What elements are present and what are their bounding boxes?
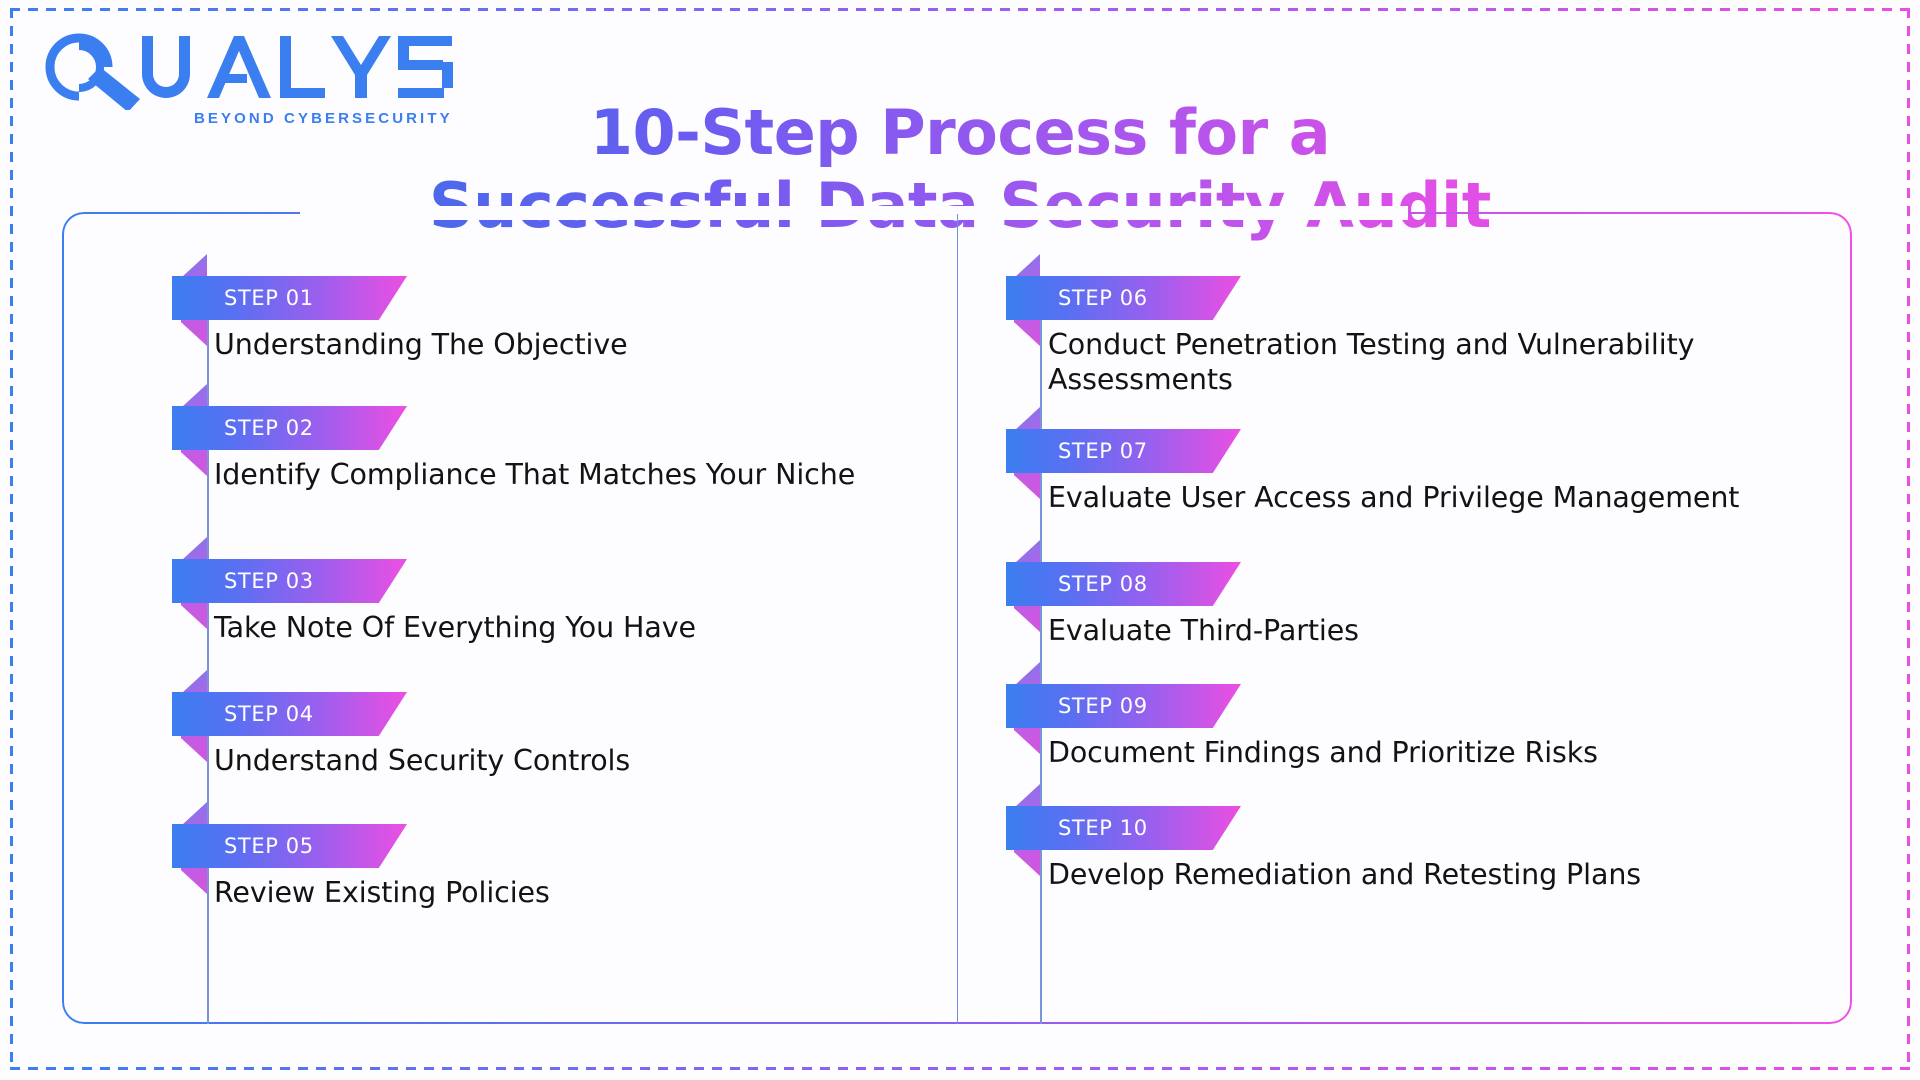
step-banner[interactable]: STEP 05 [172,824,407,868]
step-description: Understand Security Controls [214,744,874,779]
step-banner[interactable]: STEP 07 [1006,429,1241,473]
steps-column-right: STEP 06Conduct Penetration Testing and V… [957,214,1852,1024]
step-item[interactable]: STEP 08Evaluate Third-Parties [958,562,1852,692]
title-line-1: 10-Step Process for a [590,96,1330,169]
steps-container: STEP 01Understanding The ObjectiveSTEP 0… [62,214,1852,1024]
step-description: Review Existing Policies [214,876,874,911]
step-ribbon: STEP 02 [62,406,957,454]
step-item[interactable]: STEP 01Understanding The Objective [62,276,957,406]
step-label: STEP 04 [224,702,314,726]
step-ribbon: STEP 05 [62,824,957,872]
step-ribbon: STEP 07 [958,429,1852,477]
step-description: Document Findings and Prioritize Risks [1048,736,1848,771]
step-label: STEP 07 [1058,439,1148,463]
step-label: STEP 08 [1058,572,1148,596]
step-banner[interactable]: STEP 04 [172,692,407,736]
step-banner[interactable]: STEP 09 [1006,684,1241,728]
step-description: Evaluate User Access and Privilege Manag… [1048,481,1848,516]
step-item[interactable]: STEP 09Document Findings and Prioritize … [958,684,1852,814]
step-label: STEP 10 [1058,816,1148,840]
step-label: STEP 06 [1058,286,1148,310]
step-banner[interactable]: STEP 10 [1006,806,1241,850]
step-label: STEP 01 [224,286,314,310]
step-description: Evaluate Third-Parties [1048,614,1848,649]
step-description: Develop Remediation and Retesting Plans [1048,858,1848,893]
step-ribbon: STEP 03 [62,559,957,607]
step-ribbon: STEP 06 [958,276,1852,324]
step-item[interactable]: STEP 06Conduct Penetration Testing and V… [958,276,1852,406]
step-description: Take Note Of Everything You Have [214,611,874,646]
step-banner[interactable]: STEP 02 [172,406,407,450]
step-item[interactable]: STEP 04Understand Security Controls [62,692,957,822]
step-item[interactable]: STEP 02Identify Compliance That Matches … [62,406,957,536]
step-ribbon: STEP 08 [958,562,1852,610]
step-banner[interactable]: STEP 03 [172,559,407,603]
step-banner[interactable]: STEP 08 [1006,562,1241,606]
step-banner[interactable]: STEP 01 [172,276,407,320]
step-label: STEP 05 [224,834,314,858]
step-label: STEP 09 [1058,694,1148,718]
step-label: STEP 03 [224,569,314,593]
step-label: STEP 02 [224,416,314,440]
step-banner[interactable]: STEP 06 [1006,276,1241,320]
step-item[interactable]: STEP 05Review Existing Policies [62,824,957,954]
step-ribbon: STEP 09 [958,684,1852,732]
step-ribbon: STEP 01 [62,276,957,324]
step-description: Identify Compliance That Matches Your Ni… [214,458,874,493]
step-description: Conduct Penetration Testing and Vulnerab… [1048,328,1848,398]
step-item[interactable]: STEP 07Evaluate User Access and Privileg… [958,429,1852,559]
step-ribbon: STEP 10 [958,806,1852,854]
steps-column-left: STEP 01Understanding The ObjectiveSTEP 0… [62,214,957,1024]
step-item[interactable]: STEP 03Take Note Of Everything You Have [62,559,957,689]
step-description: Understanding The Objective [214,328,874,363]
step-ribbon: STEP 04 [62,692,957,740]
step-item[interactable]: STEP 10Develop Remediation and Retesting… [958,806,1852,936]
